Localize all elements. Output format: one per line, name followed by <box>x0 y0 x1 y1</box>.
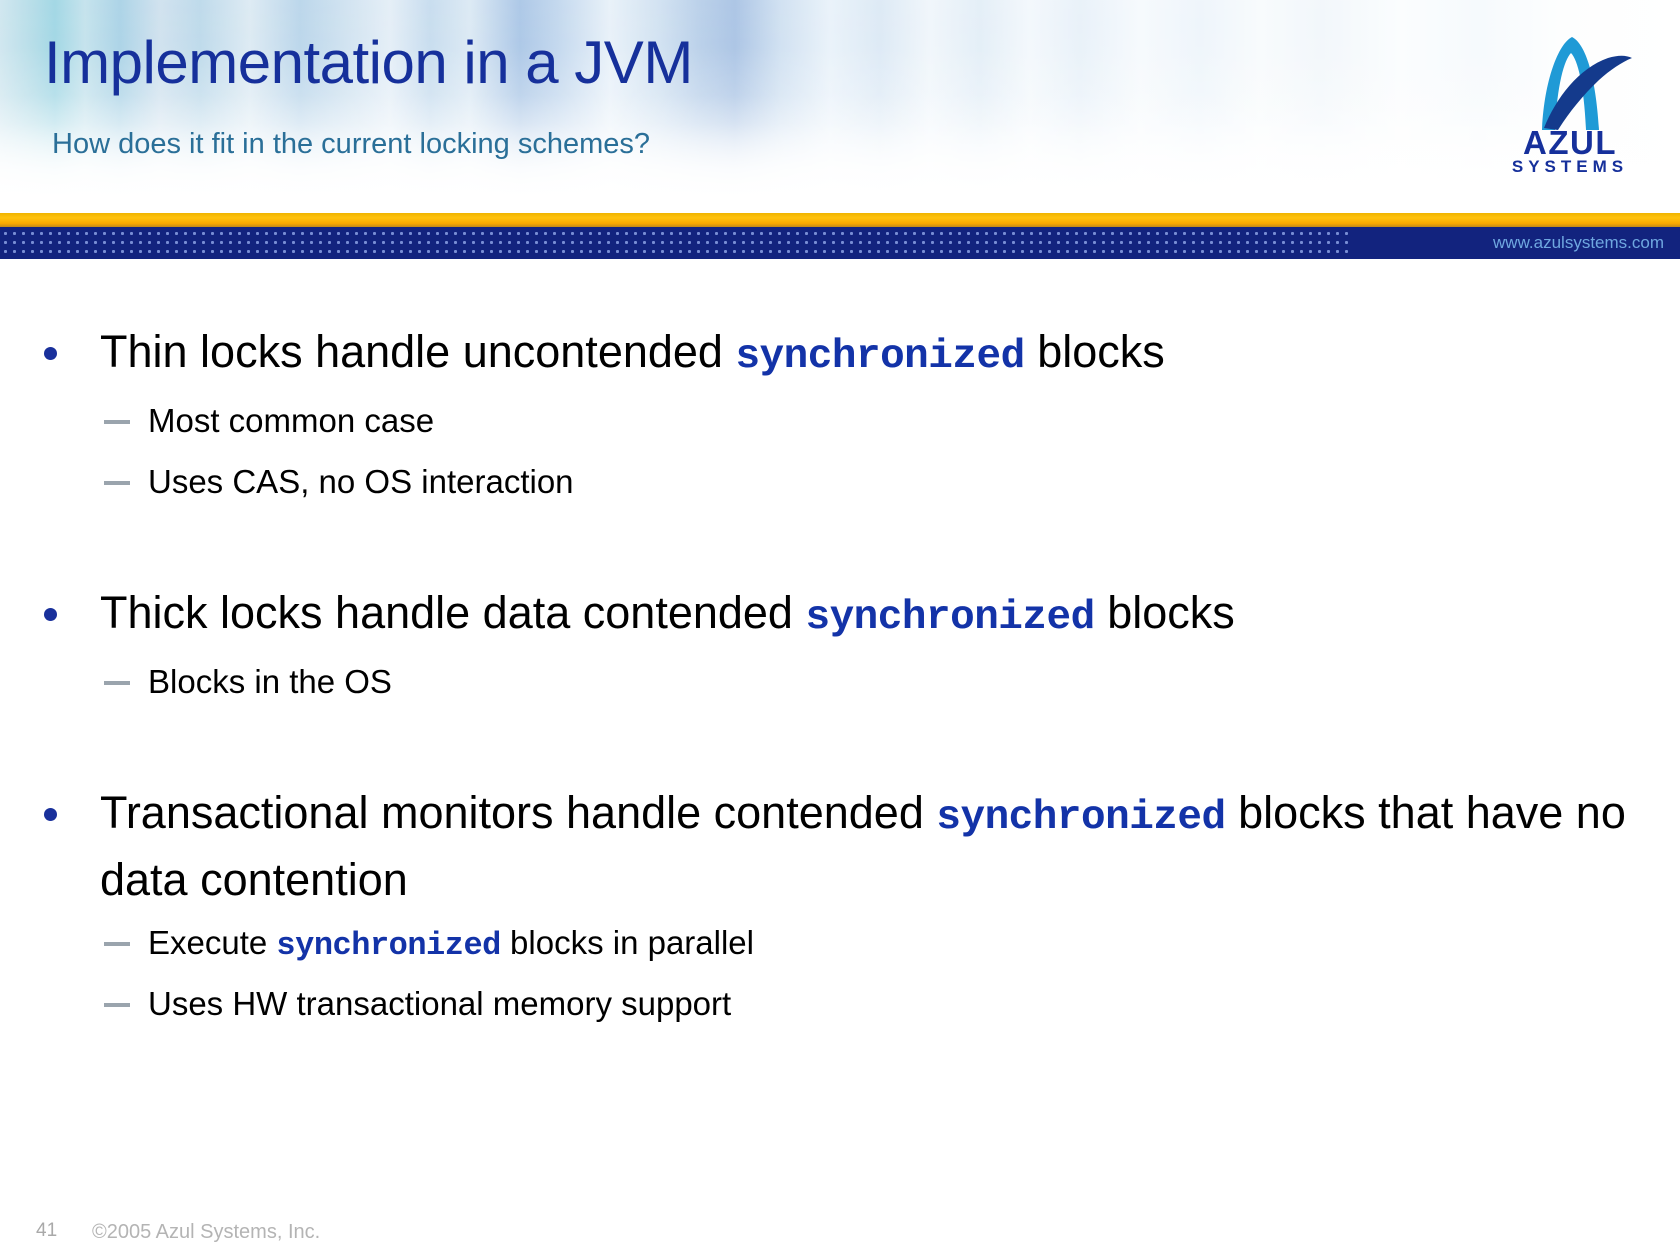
bullet-item: Thin locks handle uncontended synchroniz… <box>0 321 1680 388</box>
sub-bullet-text-pre: Blocks in the OS <box>148 663 392 700</box>
keyword-synchronized: synchronized <box>936 795 1225 841</box>
sub-bullet-text-pre: Execute <box>148 924 276 961</box>
slide-footer: 41 ©2005 Azul Systems, Inc. <box>0 1216 1680 1246</box>
gold-divider-band <box>0 213 1680 227</box>
page-title: Implementation in a JVM <box>44 28 693 98</box>
sub-bullet-text-post: blocks in parallel <box>501 924 754 961</box>
azul-systems-logo: AZUL SYSTEMS <box>1484 20 1656 175</box>
bullet-text-pre: Thin locks handle uncontended <box>100 326 735 377</box>
sub-bullet-text-pre: Most common case <box>148 402 434 439</box>
logo-subwordmark: SYSTEMS <box>1512 157 1628 175</box>
sub-bullet-text-pre: Uses CAS, no OS interaction <box>148 463 574 500</box>
bullet-dot-icon <box>44 808 57 821</box>
site-url: www.azulsystems.com <box>1493 227 1664 259</box>
page-subtitle: How does it fit in the current locking s… <box>52 126 650 162</box>
sub-bullet-dash-icon <box>104 681 130 685</box>
dot-pattern-decoration <box>0 227 1350 259</box>
sub-bullet-dash-icon <box>104 942 130 946</box>
sub-bullet-dash-icon <box>104 420 130 424</box>
sub-bullet-dash-icon <box>104 481 130 485</box>
bullet-text-post: blocks <box>1025 326 1165 377</box>
sub-bullet-item: Blocks in the OS <box>0 653 1680 714</box>
keyword-synchronized: synchronized <box>735 334 1024 380</box>
bullet-item: Transactional monitors handle contended … <box>0 782 1680 910</box>
bullet-item: Thick locks handle data contended synchr… <box>0 582 1680 649</box>
slide-header: Implementation in a JVM How does it fit … <box>0 0 1680 213</box>
sub-bullet-item: Execute synchronized blocks in parallel <box>0 914 1680 975</box>
bullet-group: Thick locks handle data contended synchr… <box>0 582 1680 714</box>
sub-bullet-text-pre: Uses HW transactional memory support <box>148 985 731 1022</box>
bullet-group: Thin locks handle uncontended synchroniz… <box>0 321 1680 514</box>
bullet-dot-icon <box>44 347 57 360</box>
bullet-text-pre: Thick locks handle data contended <box>100 587 805 638</box>
sub-bullet-item: Uses CAS, no OS interaction <box>0 453 1680 514</box>
section-spacer <box>0 536 1680 582</box>
navy-divider-band <box>0 227 1680 259</box>
bullet-group: Transactional monitors handle contended … <box>0 782 1680 1036</box>
sub-bullet-item: Uses HW transactional memory support <box>0 975 1680 1036</box>
logo-wordmark: AZUL <box>1523 124 1617 161</box>
keyword-synchronized: synchronized <box>276 927 500 964</box>
copyright-notice: ©2005 Azul Systems, Inc. <box>92 1217 320 1247</box>
bullet-dot-icon <box>44 608 57 621</box>
sub-bullet-dash-icon <box>104 1003 130 1007</box>
bullet-text-pre: Transactional monitors handle contended <box>100 787 936 838</box>
section-spacer <box>0 736 1680 782</box>
bullet-text-post: blocks <box>1095 587 1235 638</box>
sub-bullet-item: Most common case <box>0 392 1680 453</box>
slide-body: Thin locks handle uncontended synchroniz… <box>0 259 1680 1139</box>
keyword-synchronized: synchronized <box>805 595 1094 641</box>
page-number: 41 <box>36 1216 57 1246</box>
